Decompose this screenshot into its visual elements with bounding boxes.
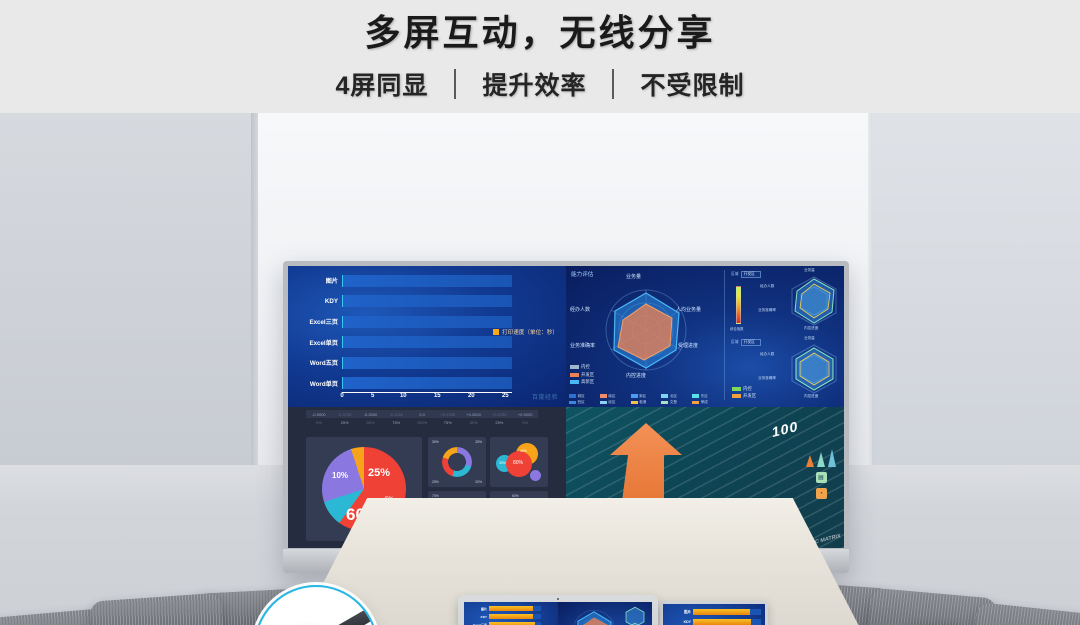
conference-room-photo: 图片 KDY Excel三页 Excel单页	[0, 113, 1080, 625]
bubble-label: 30%	[499, 461, 506, 465]
chip-swatch	[600, 401, 607, 405]
ruler-value: -0.2500	[358, 412, 384, 417]
mini-axis-label: 业务准确率	[758, 308, 776, 313]
feature-item-3: 不受限制	[640, 66, 744, 102]
pie-slice-label: 25%	[368, 467, 390, 479]
legend-swatch	[570, 365, 579, 369]
radar-axis-label: 经办人数	[570, 306, 590, 313]
bar-label: Word单页	[294, 379, 342, 388]
chip-swatch	[661, 394, 668, 398]
ruler-percent: 25%	[332, 420, 358, 425]
chip-label: 新区	[639, 394, 646, 399]
up-arrow-icon	[817, 452, 825, 467]
chip: 北区	[661, 394, 690, 399]
page-title: 多屏互动，无线分享	[0, 4, 1080, 56]
bar-track	[342, 336, 512, 348]
bar-track	[342, 295, 512, 307]
radar-mini-panel: 区域 开发区 综合指数	[728, 268, 844, 334]
bar-row: 图片	[294, 273, 520, 288]
bar-chart-rows: 图片 KDY Excel三页 Excel单页	[294, 273, 520, 391]
colorbar	[736, 286, 741, 324]
bar-chart-x-axis: 0 5 10 15 20 25	[342, 392, 512, 404]
webcam-icon	[557, 598, 559, 600]
mini-radar-plot: 业务量 经办人数 业务准确率 内控进度	[788, 342, 840, 396]
bar-track	[342, 357, 512, 369]
secondary-display[interactable]: 图片 KDY Excel三页 Excel单页 Word五页 Word单页 0 1…	[660, 601, 768, 625]
chip-label: 北区	[670, 394, 677, 399]
gauge-label: 60%	[512, 494, 519, 498]
mini-axis-label: 业务准确率	[758, 376, 776, 381]
chip-swatch	[631, 401, 638, 405]
bar-row: Excel三页	[294, 314, 520, 329]
legend-label: 开发区	[581, 372, 594, 378]
mini-axis-label: 业务量	[804, 268, 815, 273]
ruler-percent: 75%	[435, 420, 461, 425]
arrow-icon-stack: ▤ ◔	[806, 449, 836, 499]
ruler-percent: 0%	[512, 420, 538, 425]
bubble-label: 80%	[513, 460, 523, 466]
chip: 荣成	[692, 400, 721, 405]
chip: 新区	[631, 394, 660, 399]
bar-label: Word五页	[294, 358, 342, 367]
ruler-value: +0.3750	[486, 412, 512, 417]
ruler-percent: 75%	[383, 420, 409, 425]
chip-label: 临港	[639, 400, 646, 405]
radar-axis-label: 人均业务量	[676, 306, 701, 313]
colorbar-label: 综合指数	[730, 326, 744, 331]
ruler-percent: 50%	[461, 420, 487, 425]
selector-value: 开发区	[741, 339, 761, 346]
radar-axis-label: 业务量	[626, 273, 641, 280]
dongle-handle	[333, 608, 374, 625]
chip-label: 东区	[701, 394, 708, 399]
bar-fill	[489, 614, 533, 619]
bar-chart-legend: 打印速度（单位：秒）	[493, 328, 558, 336]
donut-label: 20%	[475, 480, 482, 484]
bar-row: Word单页	[294, 376, 520, 391]
bar-fill	[693, 619, 751, 625]
feature-item-1: 4屏同显	[336, 66, 429, 102]
chip: 临港	[631, 400, 660, 405]
bubble-chart-card: 40% 80% 30%	[490, 437, 548, 487]
ruler-values-row: -0.5000 -0.3750 -0.2500 -0.1250 0.0 +0.1…	[306, 410, 538, 418]
bar-label: 图片	[467, 607, 489, 611]
laptop-panel-radar	[558, 602, 652, 625]
radar-title: 能力评估	[571, 270, 593, 278]
radar-svg	[592, 280, 700, 380]
legend-label: 打印速度（单位：秒）	[502, 328, 558, 336]
bar-row: KDY	[294, 294, 520, 309]
monitor-screen: 图片 KDY Excel三页 Excel单页 Word五页 Word单页 0 1…	[660, 601, 768, 625]
ruler-percent: 0%	[306, 420, 332, 425]
ruler-value: +0.1250	[435, 412, 461, 417]
arc-label: 70%	[432, 494, 439, 498]
laptop[interactable]: 图片 KDY Excel三页 Excel单页 Word五页 Word单页 打印速…	[452, 595, 664, 625]
chip-swatch	[692, 401, 699, 405]
legend-row: 开发区	[732, 393, 756, 399]
ruler-value: +0.2500	[461, 412, 487, 417]
mini-radar-svg	[788, 274, 840, 328]
selector-label: 区域	[731, 340, 739, 345]
legend-row: 开发区	[570, 372, 594, 378]
chip-swatch	[600, 394, 607, 398]
laptop-screen: 图片 KDY Excel三页 Excel单页 Word五页 Word单页 打印速…	[464, 602, 652, 625]
bar-label: KDY	[294, 298, 342, 305]
bar-track	[342, 316, 512, 328]
radar-chip-row: 城区 南区 新区 北区 东区 西区 经区 临港 文登 荣成	[569, 394, 721, 406]
radar-mini-panels: 区域 开发区 综合指数	[728, 266, 844, 407]
legend-swatch	[732, 387, 741, 391]
radar-mini-panel: 区域 开发区 内控 开发区	[728, 336, 844, 402]
feature-list: 4屏同显 提升效率 不受限制	[0, 66, 1080, 102]
bar-fill	[693, 609, 750, 615]
mini-axis-label: 经办人数	[760, 352, 774, 357]
chip: 经区	[600, 400, 629, 405]
ruler-percent: 50%	[358, 420, 384, 425]
bar-fill	[489, 606, 533, 611]
laptop-panel-bar: 图片 KDY Excel三页 Excel单页 Word五页 Word单页 打印速…	[464, 602, 558, 625]
region-selector[interactable]: 区域 开发区	[731, 339, 761, 346]
bar-label: 图片	[294, 276, 342, 285]
feature-divider-1	[454, 69, 456, 99]
chart-icon: ▤	[816, 472, 827, 483]
x-tick: 20	[468, 393, 475, 404]
chip: 西区	[569, 400, 598, 405]
clock-icon: ◔	[816, 488, 827, 499]
mini-radar-plot: 业务量 经办人数 业务准确率 内控进度	[788, 274, 840, 328]
mini-legend: 内控 开发区	[732, 386, 756, 400]
laptop-lid: 图片 KDY Excel三页 Excel单页 Word五页 Word单页 打印速…	[458, 595, 658, 625]
bar-track	[342, 275, 512, 287]
bar-row: Word五页	[294, 355, 520, 370]
legend-swatch	[493, 329, 499, 335]
bar-row: Excel单页	[294, 335, 520, 350]
x-tick: 10	[400, 393, 407, 404]
legend-label: 内控	[581, 364, 590, 370]
legend-swatch	[570, 373, 579, 377]
bar-label: KDY	[467, 615, 489, 619]
chip-label: 荣成	[701, 400, 708, 405]
radar-axis-label: 业务准确率	[570, 342, 595, 349]
chip-label: 经区	[608, 400, 615, 405]
ruler-value: -0.5000	[306, 412, 332, 417]
mini-axis-label: 内控进度	[804, 326, 818, 331]
bar-label: 图片	[667, 610, 693, 615]
chip-swatch	[569, 394, 576, 398]
up-arrow-icon-row	[806, 449, 836, 467]
bubble	[530, 470, 541, 481]
bar-label: Excel单页	[294, 338, 342, 347]
donut-label: 30%	[432, 440, 439, 444]
product-promo-page: 多屏互动，无线分享 4屏同显 提升效率 不受限制 图	[0, 0, 1080, 625]
chip: 东区	[692, 394, 721, 399]
chip-label: 南区	[608, 394, 615, 399]
chip: 南区	[600, 394, 629, 399]
radar-plot: 业务量 人均业务量 受理进度 内控进度 业务准确率 经办人数	[592, 280, 700, 380]
legend-label: 高新区	[581, 379, 594, 385]
chip: 文登	[661, 400, 690, 405]
chip-swatch	[692, 394, 699, 398]
selector-value: 开发区	[741, 271, 761, 278]
chip-swatch	[631, 394, 638, 398]
legend-row: 内控	[570, 364, 594, 370]
x-tick: 25	[502, 393, 509, 404]
up-arrow-icon	[806, 455, 814, 467]
ruler-percent: 100%	[409, 420, 435, 425]
wall-right	[872, 113, 1080, 475]
legend-label: 开发区	[743, 393, 756, 399]
donut-label: 25%	[432, 480, 439, 484]
panel-divider	[724, 270, 725, 400]
ruler-percents-row: 0% 25% 50% 75% 100% 75% 50% 25% 0%	[306, 418, 538, 426]
mini-radar-svg	[788, 342, 840, 396]
donut-label: 25%	[475, 440, 482, 444]
pie-slice-label: 10%	[332, 471, 348, 480]
bar-label: Excel三页	[294, 317, 342, 326]
chip-label: 西区	[578, 400, 585, 405]
x-tick: 0	[340, 393, 343, 404]
selector-label: 区域	[731, 272, 739, 277]
chip-swatch	[569, 401, 576, 405]
up-arrow-icon	[828, 449, 836, 467]
ruler-value: 0.0	[409, 412, 435, 417]
radar-legend: 内控 开发区 高新区	[570, 364, 594, 385]
header-banner: 多屏互动，无线分享 4屏同显 提升效率 不受限制	[0, 0, 1080, 113]
feature-divider-2	[612, 69, 614, 99]
chip: 城区	[569, 394, 598, 399]
radar-axis-label: 受理进度	[678, 342, 698, 349]
wall-left	[0, 113, 260, 473]
bar-label: KDY	[667, 620, 693, 624]
feature-item-2: 提升效率	[482, 66, 586, 102]
mini-axis-label: 经办人数	[760, 284, 774, 289]
legend-swatch	[732, 394, 741, 398]
ruler-value: -0.3750	[332, 412, 358, 417]
mini-axis-label: 内控进度	[804, 394, 818, 399]
legend-swatch	[570, 380, 579, 384]
dashboard-panel-radar: 能力评估	[566, 266, 844, 407]
chip-label: 文登	[670, 400, 677, 405]
watermark: 百度经验	[532, 392, 558, 401]
ruler-value: -0.1250	[383, 412, 409, 417]
bar-track	[342, 377, 512, 389]
ruler-value: +0.5000	[512, 412, 538, 417]
x-tick: 5	[371, 393, 374, 404]
legend-label: 内控	[743, 386, 752, 392]
radar-svg	[566, 605, 622, 625]
bubble-label: 40%	[520, 449, 527, 453]
ruler-percent: 25%	[486, 420, 512, 425]
mini-axis-label: 业务量	[804, 336, 815, 341]
ruler-scale: -0.5000 -0.3750 -0.2500 -0.1250 0.0 +0.1…	[306, 410, 538, 426]
legend-row: 高新区	[570, 379, 594, 385]
radar-axis-label: 内控进度	[626, 372, 646, 379]
radar-main: 能力评估	[566, 266, 726, 407]
region-selector[interactable]: 区域 开发区	[731, 271, 761, 278]
donut-chart-card: 30% 25% 25% 20%	[428, 437, 486, 487]
legend-row: 内控	[732, 386, 756, 392]
x-tick: 15	[434, 393, 441, 404]
dashboard-panel-bar-chart: 图片 KDY Excel三页 Excel单页	[288, 266, 566, 407]
chip-swatch	[661, 401, 668, 405]
chip-label: 城区	[578, 394, 585, 399]
donut-chart	[442, 447, 472, 477]
